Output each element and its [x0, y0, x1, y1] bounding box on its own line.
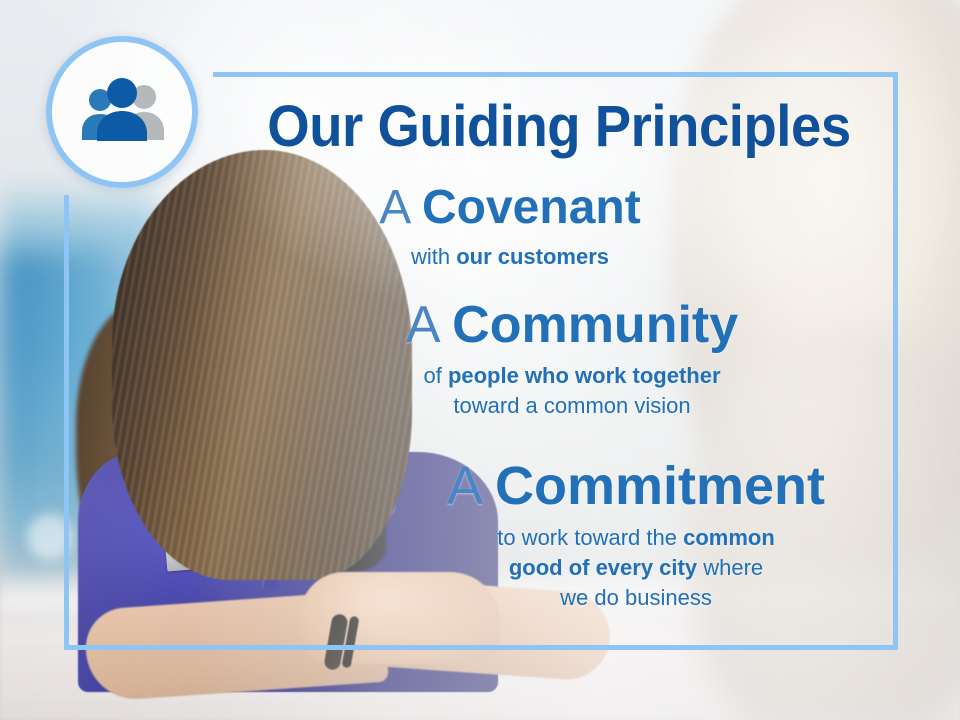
people-badge [46, 36, 198, 188]
people-group-icon [74, 77, 170, 147]
principle-covenant-lead: A Covenant [300, 183, 720, 233]
principle-covenant-keyword: Covenant [422, 181, 641, 234]
principle-commitment-lead: A Commitment [396, 458, 876, 514]
principle-covenant-sub-bold: our customers [456, 244, 609, 269]
principle-covenant-article: A [379, 181, 408, 234]
principle-commitment-sub-line2-bold: good of every city [509, 555, 697, 580]
principle-community-sub-bold: people who work together [448, 363, 721, 388]
principle-commitment-sub-plain: to work toward the [497, 525, 683, 550]
principle-community: A Community of people who work together … [352, 298, 792, 421]
principle-commitment-sub-line2-plain: where [697, 555, 763, 580]
principle-commitment-sub-bold: common [683, 525, 775, 550]
page-title: Our Guiding Principles [235, 96, 884, 158]
principle-community-sub-line2: toward a common vision [453, 393, 690, 418]
principle-community-sub-plain: of [423, 363, 447, 388]
blurred-vw-logo [18, 505, 82, 569]
principle-community-keyword: Community [452, 296, 738, 354]
principle-covenant: A Covenant with our customers [300, 183, 720, 272]
principle-covenant-sub-plain: with [411, 244, 456, 269]
principle-commitment-keyword: Commitment [495, 456, 825, 516]
principle-community-article: A [406, 296, 438, 354]
principle-covenant-subtext: with our customers [300, 242, 720, 272]
principle-commitment: A Commitment to work toward the common g… [396, 458, 876, 613]
poster-canvas: FLOWAUTOMOTIVE FLOW [0, 0, 960, 720]
principle-commitment-article: A [447, 456, 480, 516]
principle-commitment-subtext: to work toward the common good of every … [396, 523, 876, 613]
principle-community-subtext: of people who work together toward a com… [352, 361, 792, 421]
principle-community-lead: A Community [352, 298, 792, 352]
principle-commitment-sub-line3: we do business [560, 585, 712, 610]
